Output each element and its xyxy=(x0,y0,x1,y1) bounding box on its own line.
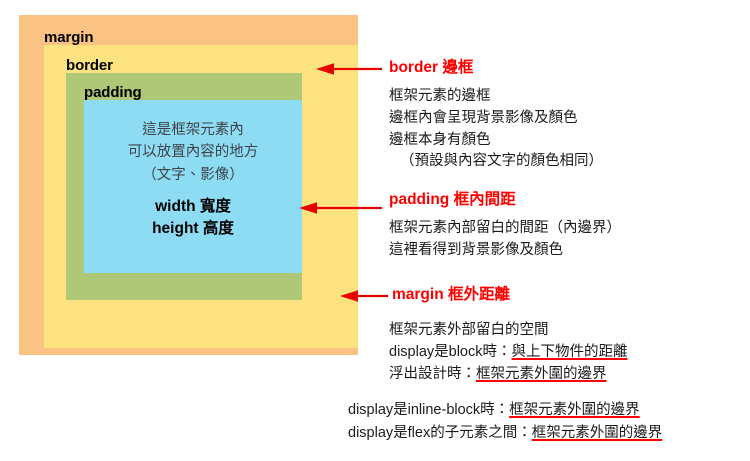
content-layer: 這是框架元素內 可以放置內容的地方 （文字、影像） width 寬度 heigh… xyxy=(84,100,302,273)
annotation-line-rich: display是block時：與上下物件的距離 xyxy=(389,342,628,364)
height-label: height 高度 xyxy=(84,218,302,240)
content-description-line: 這是框架元素內 xyxy=(84,119,302,141)
annotation-body-margin: 框架元素外部留白的空間 display是block時：與上下物件的距離 浮出設計… xyxy=(389,320,628,385)
annotation-line: 框架元素外部留白的空間 xyxy=(389,320,628,342)
annotation-line-prefix: display是block時： xyxy=(389,344,512,360)
content-description-line: （文字、影像） xyxy=(84,164,302,186)
annotation-heading-margin: margin 框外距離 xyxy=(392,287,510,303)
footer-line-rich: display是flex的子元素之間：框架元素外圍的邊界 xyxy=(348,422,662,445)
annotation-line-prefix: 浮出設計時： xyxy=(389,366,476,382)
width-label: width 寬度 xyxy=(84,196,302,218)
annotation-line: （預設與內容文字的顏色相同） xyxy=(389,151,603,173)
footer-line-prefix: display是flex的子元素之間： xyxy=(348,425,532,441)
footer-notes: display是inline-block時：框架元素外圍的邊界 display是… xyxy=(348,399,662,445)
border-layer: border padding 這是框架元素內 可以放置內容的地方 （文字、影像）… xyxy=(44,45,358,348)
padding-layer-label: padding xyxy=(84,85,302,100)
content-description-text: 這是框架元素內 可以放置內容的地方 （文字、影像） xyxy=(84,119,302,186)
annotation-line: 邊框本身有顏色 xyxy=(389,130,603,152)
annotation-line: 框架元素內部留白的間距（內邊界） xyxy=(389,218,621,240)
box-model-diagram: margin border padding 這是框架元素內 可以放置內容的地方 … xyxy=(19,15,358,355)
annotation-line-rich: 浮出設計時：框架元素外圍的邊界 xyxy=(389,364,628,386)
annotation-line: 這裡看得到背景影像及顏色 xyxy=(389,240,621,262)
footer-line-underlined: 框架元素外圍的邊界 xyxy=(532,425,663,441)
border-layer-label: border xyxy=(66,58,358,73)
annotation-heading-padding: padding 框內間距 xyxy=(389,192,516,208)
annotation-heading-border: border 邊框 xyxy=(389,60,473,76)
padding-layer: padding 這是框架元素內 可以放置內容的地方 （文字、影像） width … xyxy=(66,73,302,300)
annotation-body-padding: 框架元素內部留白的間距（內邊界） 這裡看得到背景影像及顏色 xyxy=(389,218,621,262)
margin-layer: margin border padding 這是框架元素內 可以放置內容的地方 … xyxy=(19,15,358,355)
content-description-line: 可以放置內容的地方 xyxy=(84,141,302,163)
annotation-line-underlined: 框架元素外圍的邊界 xyxy=(476,366,607,382)
annotation-line-underlined: 與上下物件的距離 xyxy=(512,344,628,360)
margin-layer-label: margin xyxy=(44,30,358,45)
footer-line-underlined: 框架元素外圍的邊界 xyxy=(509,402,640,418)
footer-line-prefix: display是inline-block時： xyxy=(348,402,509,418)
content-dimension-text: width 寬度 height 高度 xyxy=(84,196,302,240)
annotation-body-border: 框架元素的邊框 邊框內會呈現背景影像及顏色 邊框本身有顏色 （預設與內容文字的顏… xyxy=(389,86,603,173)
annotation-line: 框架元素的邊框 xyxy=(389,86,603,108)
footer-line-rich: display是inline-block時：框架元素外圍的邊界 xyxy=(348,399,662,422)
annotation-line: 邊框內會呈現背景影像及顏色 xyxy=(389,108,603,130)
